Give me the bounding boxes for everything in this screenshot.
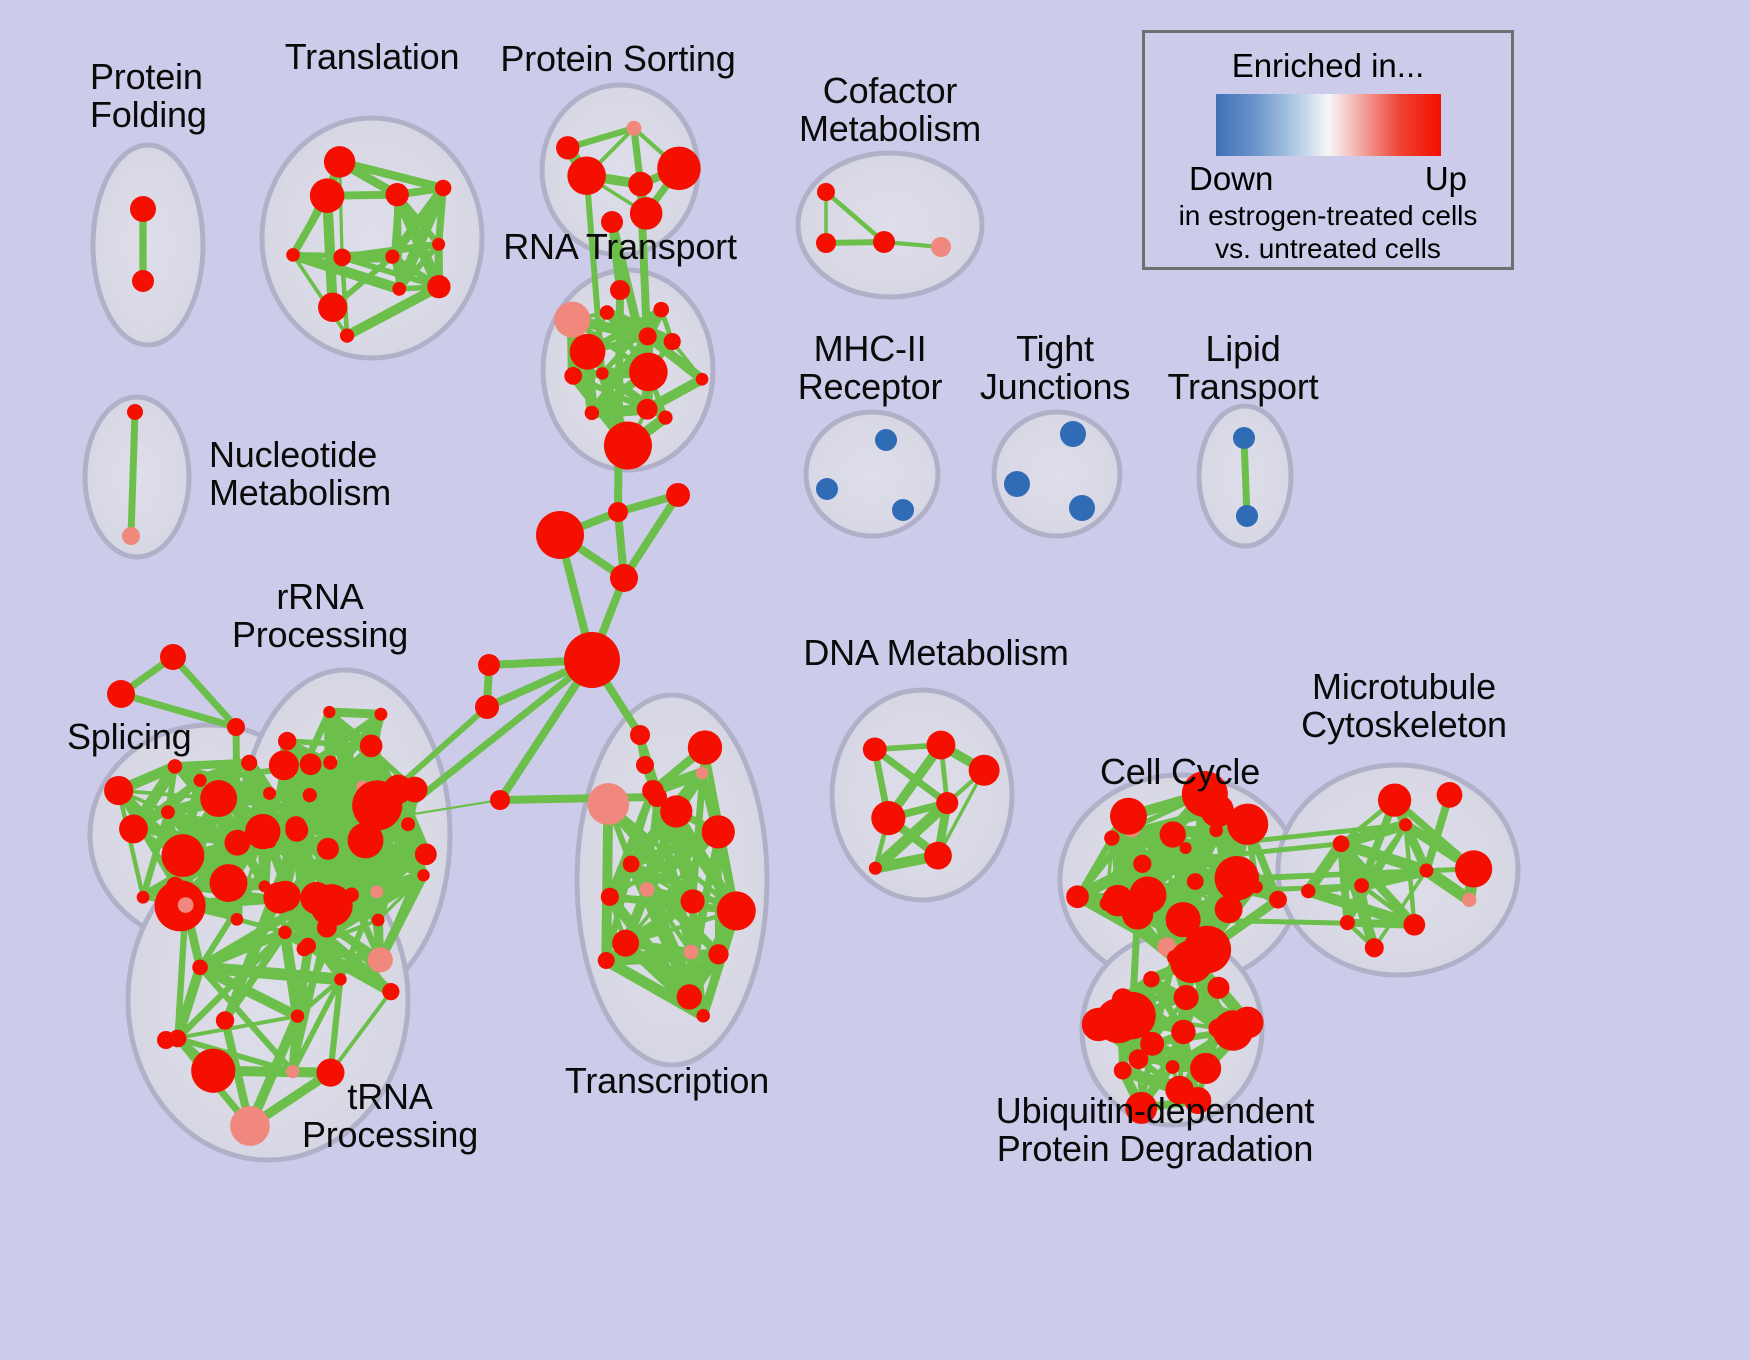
network-node (1233, 427, 1255, 449)
network-edge (500, 797, 657, 800)
network-node (104, 776, 133, 805)
network-node (587, 783, 629, 825)
network-node (658, 410, 672, 424)
network-node (636, 756, 654, 774)
network-node (269, 750, 299, 780)
legend-caption-line1: in estrogen-treated cells (1179, 200, 1478, 231)
network-node (132, 270, 154, 292)
network-node (696, 1009, 710, 1023)
network-node (119, 814, 148, 843)
network-node (286, 248, 300, 262)
network-node (666, 483, 690, 507)
network-node (536, 511, 584, 559)
network-node (564, 367, 582, 385)
network-node (640, 882, 655, 897)
network-node (1069, 495, 1095, 521)
network-node (324, 146, 355, 177)
network-node (368, 947, 393, 972)
network-node (936, 792, 958, 814)
network-node (401, 817, 415, 831)
network-edge (1244, 438, 1247, 516)
network-node (263, 835, 276, 848)
network-node (1190, 1053, 1221, 1084)
legend-caption-line2: vs. untreated cells (1215, 233, 1441, 264)
network-edge (618, 290, 620, 512)
network-node (374, 708, 387, 721)
network-node (556, 136, 579, 159)
cluster-label-splicing: Splicing (67, 718, 191, 756)
network-node (1437, 782, 1463, 808)
cluster-label-transcription: Transcription (565, 1062, 769, 1100)
network-node (681, 889, 705, 913)
network-node (323, 756, 337, 770)
network-node (291, 1009, 304, 1022)
cluster-blob-protein-folding (93, 145, 203, 345)
network-node (300, 753, 322, 775)
network-node (392, 282, 406, 296)
network-node (1419, 864, 1433, 878)
network-node (610, 280, 630, 300)
network-node (310, 178, 345, 213)
network-node (1236, 505, 1258, 527)
network-node (570, 334, 606, 370)
network-node (1170, 940, 1213, 983)
network-node (1110, 798, 1147, 835)
network-node (1269, 891, 1287, 909)
network-node (567, 156, 606, 195)
network-node (385, 250, 399, 264)
network-node (200, 780, 237, 817)
network-node (708, 944, 728, 964)
network-node (1060, 421, 1086, 447)
network-node (1082, 1008, 1115, 1041)
cluster-label-mhc-ii-receptor: MHC-II Receptor (798, 330, 942, 406)
cluster-label-nucleotide-metabolism: Nucleotide Metabolism (209, 436, 391, 512)
network-node (1133, 855, 1151, 873)
cluster-label-tight-junctions: Tight Junctions (980, 330, 1130, 406)
cluster-label-trna-processing: tRNA Processing (302, 1078, 478, 1154)
cluster-label-rrna-processing: rRNA Processing (232, 578, 408, 654)
network-node (192, 959, 208, 975)
network-node (626, 121, 641, 136)
network-node (297, 942, 312, 957)
network-node (323, 706, 335, 718)
network-node (702, 815, 735, 848)
network-node (629, 353, 668, 392)
network-node (630, 725, 650, 745)
network-node (688, 730, 722, 764)
cluster-blob-mhc-ii-receptor (806, 412, 938, 536)
network-node (892, 499, 914, 521)
network-node (1232, 1007, 1264, 1039)
network-node (816, 233, 836, 253)
network-node (1100, 896, 1115, 911)
network-node (873, 231, 895, 253)
network-node (1160, 821, 1186, 847)
network-node (863, 737, 887, 761)
cluster-label-protein-sorting: Protein Sorting (500, 40, 735, 78)
network-node (371, 885, 384, 898)
network-node (402, 777, 428, 803)
network-node (241, 755, 257, 771)
network-node (263, 787, 276, 800)
network-node (1143, 971, 1159, 987)
network-node (1365, 938, 1384, 957)
legend-title: Enriched in... (1232, 47, 1425, 85)
network-node (160, 644, 186, 670)
network-node (623, 856, 640, 873)
legend-low-label: Down (1189, 160, 1273, 198)
network-node (178, 897, 194, 913)
network-node (969, 755, 1000, 786)
network-node (1399, 818, 1412, 831)
network-node (628, 172, 653, 197)
network-node (303, 788, 317, 802)
network-edge (131, 412, 135, 536)
network-node (435, 180, 452, 197)
network-node (210, 864, 248, 902)
network-node (1354, 878, 1369, 893)
network-node (696, 373, 709, 386)
network-edge (236, 727, 237, 843)
network-node (647, 787, 667, 807)
network-node (1403, 914, 1425, 936)
network-node (1166, 1060, 1180, 1074)
cluster-label-microtubule-cytoskeleton: Microtubule Cytoskeleton (1301, 668, 1507, 744)
network-node (230, 1106, 270, 1146)
network-node (478, 654, 500, 676)
network-node (1104, 830, 1119, 845)
network-node (278, 926, 291, 939)
network-node (598, 952, 615, 969)
network-edge (606, 804, 608, 960)
network-node (107, 680, 135, 708)
network-node (382, 983, 399, 1000)
network-node (677, 984, 702, 1009)
network-node (924, 842, 952, 870)
network-node (130, 196, 156, 222)
legend-color-gradient-bar (1216, 94, 1441, 156)
network-node (564, 632, 620, 688)
network-node (717, 891, 756, 930)
network-node (1227, 804, 1268, 845)
network-node (657, 147, 701, 191)
network-node (871, 801, 905, 835)
network-node (216, 1011, 234, 1029)
network-node (334, 973, 347, 986)
network-node (1301, 884, 1315, 898)
network-node (817, 183, 835, 201)
network-node (194, 774, 207, 787)
legend-box: Enriched in... Down Up in estrogen-treat… (1142, 30, 1514, 270)
network-node (161, 805, 175, 819)
network-node (931, 237, 951, 257)
network-node (1004, 471, 1030, 497)
network-node (1378, 784, 1411, 817)
network-node (317, 918, 337, 938)
network-node (1114, 1062, 1132, 1080)
network-node (161, 834, 204, 877)
network-node (1455, 850, 1492, 887)
network-node (630, 197, 663, 230)
network-node (875, 429, 897, 451)
enrichment-map-figure: Protein FoldingTranslationProtein Sortin… (0, 0, 1750, 1360)
network-node (340, 328, 354, 342)
network-node (157, 1031, 175, 1049)
network-node (639, 327, 657, 345)
network-node (417, 869, 429, 881)
network-node (415, 843, 437, 865)
network-node (637, 399, 658, 420)
network-node (1112, 988, 1134, 1010)
network-node (927, 731, 956, 760)
network-node (684, 945, 699, 960)
network-node (612, 930, 639, 957)
network-node (360, 735, 383, 758)
network-node (1171, 1020, 1195, 1044)
network-node (231, 913, 244, 926)
network-node (427, 275, 450, 298)
network-node (278, 732, 296, 750)
cluster-label-ubiquitin-protein-degradation: Ubiquitin-dependent Protein Degradation (996, 1092, 1314, 1168)
cluster-label-dna-metabolism: DNA Metabolism (803, 634, 1068, 672)
network-node (596, 367, 609, 380)
cluster-label-lipid-transport: Lipid Transport (1168, 330, 1319, 406)
network-node (318, 293, 347, 322)
network-node (385, 183, 408, 206)
cluster-label-cofactor-metabolism: Cofactor Metabolism (799, 72, 981, 148)
network-node (1250, 881, 1263, 894)
network-node (1462, 893, 1476, 907)
network-node (227, 718, 245, 736)
network-node (600, 305, 614, 319)
network-node (1187, 873, 1204, 890)
network-node (696, 767, 709, 780)
network-node (372, 914, 385, 927)
network-node (601, 888, 619, 906)
network-node (1215, 895, 1243, 923)
network-node (869, 862, 882, 875)
network-node (608, 502, 628, 522)
network-node (610, 564, 638, 592)
network-node (1174, 985, 1199, 1010)
network-node (1333, 835, 1350, 852)
network-node (816, 478, 838, 500)
legend-high-label: Up (1425, 160, 1467, 198)
network-node (300, 882, 332, 914)
network-node (137, 891, 150, 904)
network-node (585, 406, 599, 420)
network-node (122, 527, 140, 545)
cluster-label-cell-cycle: Cell Cycle (1100, 753, 1260, 791)
network-node (191, 1049, 235, 1093)
network-node (1207, 977, 1229, 999)
cluster-label-protein-folding: Protein Folding (90, 58, 207, 134)
network-node (554, 302, 590, 338)
network-node (1340, 915, 1355, 930)
network-node (1128, 1049, 1148, 1069)
cluster-label-translation: Translation (285, 38, 460, 76)
cluster-blob-dna-metabolism (832, 690, 1012, 900)
network-node (1215, 856, 1260, 901)
network-node (317, 838, 339, 860)
network-node (168, 759, 182, 773)
network-node (664, 333, 681, 350)
network-node (604, 422, 652, 470)
network-node (333, 249, 351, 267)
network-node (286, 1065, 299, 1078)
network-node (285, 816, 306, 837)
network-node (263, 882, 295, 914)
network-edge (329, 712, 381, 714)
network-node (432, 238, 445, 251)
network-node (653, 302, 669, 318)
network-node (490, 790, 510, 810)
network-node (127, 404, 143, 420)
network-node (1066, 885, 1089, 908)
network-node (475, 695, 499, 719)
cluster-label-rna-transport: RNA Transport (503, 228, 737, 266)
